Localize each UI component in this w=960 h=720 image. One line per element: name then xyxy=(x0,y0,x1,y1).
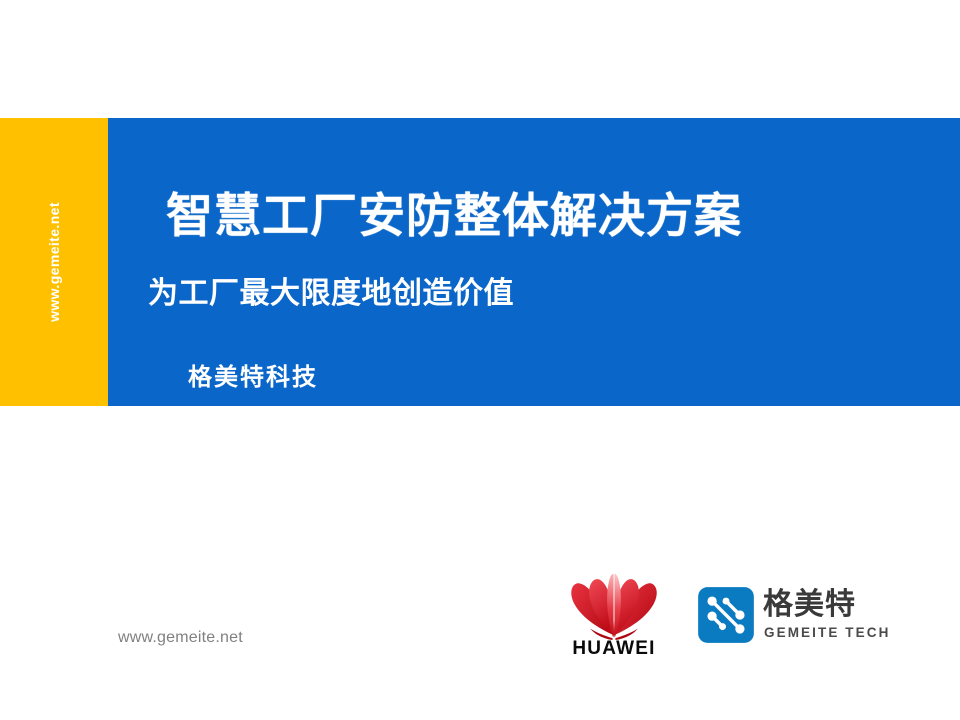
vertical-website-url-text: www.gemeite.net xyxy=(46,202,62,322)
footer-website-url: www.gemeite.net xyxy=(118,629,243,647)
gemeite-logo: 格美特 GEMEITE TECH xyxy=(697,586,893,648)
huawei-logo: HUAWEI xyxy=(566,572,662,664)
page-subtitle: 为工厂最大限度地创造价值 xyxy=(148,268,514,312)
gemeite-wordmark-cn: 格美特 xyxy=(763,586,856,624)
company-name: 格美特科技 xyxy=(188,357,318,392)
vertical-website-url: www.gemeite.net xyxy=(0,118,108,406)
gemeite-wordmark-en: GEMEITE TECH xyxy=(764,625,890,640)
gemeite-circuit-icon xyxy=(697,586,755,644)
huawei-flower-icon xyxy=(566,572,662,640)
slide-canvas: www.gemeite.net 智慧工厂安防整体解决方案 为工厂最大限度地创造价… xyxy=(0,0,960,720)
huawei-wordmark: HUAWEI xyxy=(566,638,662,660)
headline-block: 智慧工厂安防整体解决方案 为工厂最大限度地创造价值 格美特科技 xyxy=(108,118,960,406)
page-title: 智慧工厂安防整体解决方案 xyxy=(166,192,742,242)
